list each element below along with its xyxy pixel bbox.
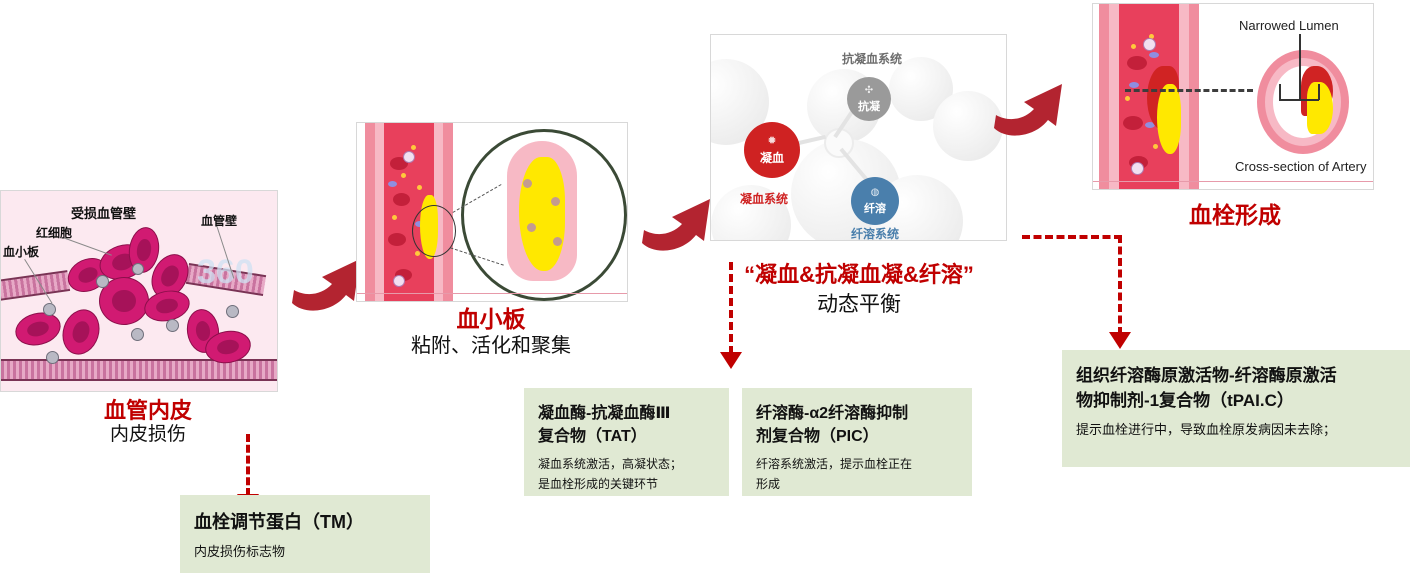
dashed-elbow-vertical <box>1118 235 1122 335</box>
dashed-arrow-balance <box>729 262 733 354</box>
lymphocyte <box>388 181 397 187</box>
platelet-illustration <box>356 122 628 302</box>
lumen-pointer-right-tick <box>1318 84 1320 100</box>
anticoag-icon: ✣ <box>865 85 873 96</box>
red-blood-cell <box>393 193 410 206</box>
label-cross-section: Cross-section of Artery <box>1235 159 1367 174</box>
tat-box-sub-line1: 凝血系统激活，高凝状态； <box>538 455 715 473</box>
plasma-particle <box>411 145 416 150</box>
stage3-caption-sub: 动态平衡 <box>723 292 995 317</box>
plasma-particle <box>1125 96 1130 101</box>
pic-box-title-line1: 纤溶酶-α2纤溶酶抑制 <box>756 402 958 425</box>
clot-particle <box>551 197 560 206</box>
tat-box-sub-line2: 是血栓形成的关键环节 <box>538 475 715 493</box>
section-cut-line <box>1125 89 1253 92</box>
node-fibrinolysis-label: 纤溶 <box>864 200 886 216</box>
platelet <box>132 263 144 275</box>
pic-box-title-line2: 剂复合物（PIC） <box>756 425 958 448</box>
magnified-clot <box>519 157 565 271</box>
dashed-arrow-balance-head <box>720 352 742 369</box>
dashed-elbow-head <box>1109 332 1131 349</box>
tpaic-box-sub: 提示血栓进行中，导致血栓原发病因未去除； <box>1076 420 1396 440</box>
coagulation-icon: ✹ <box>767 134 776 147</box>
pic-box-sub-line2: 形成 <box>756 475 958 493</box>
platelet <box>46 351 59 364</box>
stage1-caption-title: 血管内皮 <box>78 398 218 423</box>
fibrinolysis-icon: ◍ <box>871 187 880 198</box>
stage4-caption-title: 血栓形成 <box>1160 202 1310 228</box>
lymphocyte <box>1149 52 1159 58</box>
baseline-rule <box>1093 181 1373 182</box>
tm-box: 血栓调节蛋白（TM） 内皮损伤标志物 <box>180 495 430 573</box>
curved-arrow-3 <box>990 68 1082 143</box>
thrombus-mass-yellow <box>1157 84 1181 154</box>
stage2-caption-sub: 粘附、活化和聚集 <box>401 334 581 358</box>
white-blood-cell <box>393 275 405 287</box>
node-anticoagulation-label: 抗凝 <box>858 98 880 114</box>
plasma-particle <box>415 251 420 256</box>
label-platelet: 血小板 <box>3 243 39 260</box>
label-anticoagulation-system: 抗凝血系统 <box>842 50 902 67</box>
white-blood-cell <box>1131 162 1144 175</box>
lumen-pointer-vertical <box>1299 34 1301 100</box>
clot-particle <box>527 223 536 232</box>
vessel-wall-bottom <box>1 359 277 381</box>
stage3-caption-title: “凝血&抗凝血凝&纤溶” <box>723 262 995 287</box>
white-blood-cell <box>1143 38 1156 51</box>
plasma-particle <box>401 173 406 178</box>
node-coagulation-label: 凝血 <box>760 149 784 166</box>
tm-box-title: 血栓调节蛋白（TM） <box>194 509 416 535</box>
endothelium-illustration: 360 受损血管壁 红细胞 血管壁 血小板 <box>0 190 278 392</box>
lumen-pointer-left-tick <box>1279 84 1281 100</box>
node-anticoagulation[interactable]: ✣ 抗凝 <box>847 77 891 121</box>
watermark: 360 <box>197 253 254 292</box>
pic-box: 纤溶酶-α2纤溶酶抑制 剂复合物（PIC） 纤溶系统激活，提示血栓正在 形成 <box>742 388 972 496</box>
platelet <box>226 305 239 318</box>
plasma-particle <box>417 185 422 190</box>
pic-box-sub-line1: 纤溶系统激活，提示血栓正在 <box>756 455 958 473</box>
dashed-elbow-horizontal <box>1022 235 1122 239</box>
thrombus-illustration: Narrowed Lumen Cross-section of Artery <box>1092 3 1374 190</box>
label-narrowed-lumen: Narrowed Lumen <box>1239 18 1339 33</box>
tpaic-box-title-line2: 物抑制剂-1复合物（tPAI.C） <box>1076 389 1396 414</box>
label-vessel-wall: 血管壁 <box>201 212 237 229</box>
node-fibrinolysis[interactable]: ◍ 纤溶 <box>851 177 899 225</box>
stage1-caption-sub: 内皮损伤 <box>78 424 218 447</box>
clot-particle <box>553 237 562 246</box>
stage2-caption-title: 血小板 <box>431 306 551 332</box>
label-red-blood-cell: 红细胞 <box>36 224 72 241</box>
label-damaged-wall: 受损血管壁 <box>71 203 136 222</box>
clot-particle <box>523 179 532 188</box>
red-blood-cell <box>388 233 406 246</box>
platelet <box>166 319 179 332</box>
dashed-arrow-tm <box>246 434 250 496</box>
platelet <box>43 303 56 316</box>
lumen-pointer-horizontal <box>1279 99 1319 101</box>
balance-illustration: ✣ 抗凝 ✹ 凝血 ◍ 纤溶 抗凝血系统 凝血系统 纤溶系统 <box>710 34 1007 241</box>
label-coagulation-system: 凝血系统 <box>740 190 788 207</box>
tm-box-sub: 内皮损伤标志物 <box>194 542 416 562</box>
platelet <box>96 275 109 288</box>
tpaic-box: 组织纤溶酶原激活物-纤溶酶原激活 物抑制剂-1复合物（tPAI.C） 提示血栓进… <box>1062 350 1410 467</box>
lymphocyte <box>1129 82 1139 88</box>
tat-box: 凝血酶-抗凝血酶Ⅲ 复合物（TAT） 凝血系统激活，高凝状态； 是血栓形成的关键… <box>524 388 729 496</box>
platelet <box>131 328 144 341</box>
red-blood-cell <box>1123 116 1143 130</box>
tpaic-box-title-line1: 组织纤溶酶原激活物-纤溶酶原激活 <box>1076 364 1396 389</box>
white-blood-cell <box>403 151 415 163</box>
plasma-particle <box>392 215 397 220</box>
plasma-particle <box>1131 44 1136 49</box>
cross-section-thrombus-yellow <box>1307 82 1333 134</box>
plasma-particle <box>1153 144 1158 149</box>
tat-box-title-line1: 凝血酶-抗凝血酶Ⅲ <box>538 402 715 425</box>
tat-box-title-line2: 复合物（TAT） <box>538 425 715 448</box>
baseline-rule <box>357 293 627 294</box>
red-blood-cell <box>1127 56 1147 70</box>
zoom-circle-source <box>412 205 456 257</box>
node-coagulation[interactable]: ✹ 凝血 <box>744 122 800 178</box>
label-fibrinolysis-system: 纤溶系统 <box>851 225 899 241</box>
